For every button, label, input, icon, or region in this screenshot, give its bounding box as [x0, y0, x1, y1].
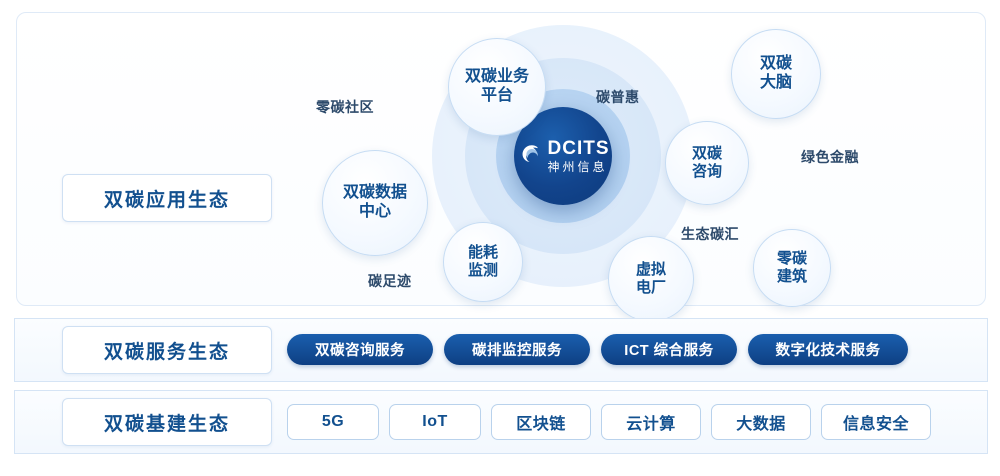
core-logo-cn: 神州信息	[548, 161, 610, 174]
diagram-canvas: DCITS 神州信息 双碳业务 平台 双碳 大脑 双碳数据 中心 双碳 咨询 能…	[0, 0, 1000, 476]
service-chip-emission-monitoring[interactable]: 碳排监控服务	[444, 334, 590, 365]
caption-eco-carbon-sink: 生态碳汇	[681, 224, 739, 244]
bubble-data-center[interactable]: 双碳数据 中心	[322, 150, 428, 256]
service-chip-digital-tech[interactable]: 数字化技术服务	[748, 334, 908, 365]
infra-chip-blockchain[interactable]: 区块链	[491, 404, 591, 440]
caption-green-finance: 绿色金融	[801, 147, 859, 167]
infra-chip-bigdata[interactable]: 大数据	[711, 404, 811, 440]
core-logo-en: DCITS	[548, 139, 610, 159]
bubble-virtual-plant[interactable]: 虚拟 电厂	[608, 236, 694, 322]
layer-label-application: 双碳应用生态	[62, 174, 272, 222]
layer-label-service: 双碳服务生态	[62, 326, 272, 374]
bubble-energy-monitor[interactable]: 能耗 监测	[443, 222, 523, 302]
caption-zero-carbon-community: 零碳社区	[316, 97, 374, 117]
core-logo: DCITS 神州信息	[517, 139, 610, 174]
core-logo-text: DCITS 神州信息	[548, 139, 610, 174]
infra-chip-5g[interactable]: 5G	[287, 404, 379, 440]
swirl-logo-icon	[517, 142, 541, 171]
layer-label-infra: 双碳基建生态	[62, 398, 272, 446]
infra-chip-cloud[interactable]: 云计算	[601, 404, 701, 440]
infra-chip-iot[interactable]: IoT	[389, 404, 481, 440]
bubble-biz-platform[interactable]: 双碳业务 平台	[448, 38, 546, 136]
caption-carbon-footprint: 碳足迹	[368, 271, 412, 291]
bubble-dual-brain[interactable]: 双碳 大脑	[731, 29, 821, 119]
bubble-consulting[interactable]: 双碳 咨询	[665, 121, 749, 205]
caption-carbon-inclusion: 碳普惠	[596, 87, 640, 107]
infra-chip-infosecurity[interactable]: 信息安全	[821, 404, 931, 440]
bubble-zero-building[interactable]: 零碳 建筑	[753, 229, 831, 307]
service-chip-consulting-service[interactable]: 双碳咨询服务	[287, 334, 433, 365]
service-chip-ict-integrated[interactable]: ICT 综合服务	[601, 334, 737, 365]
